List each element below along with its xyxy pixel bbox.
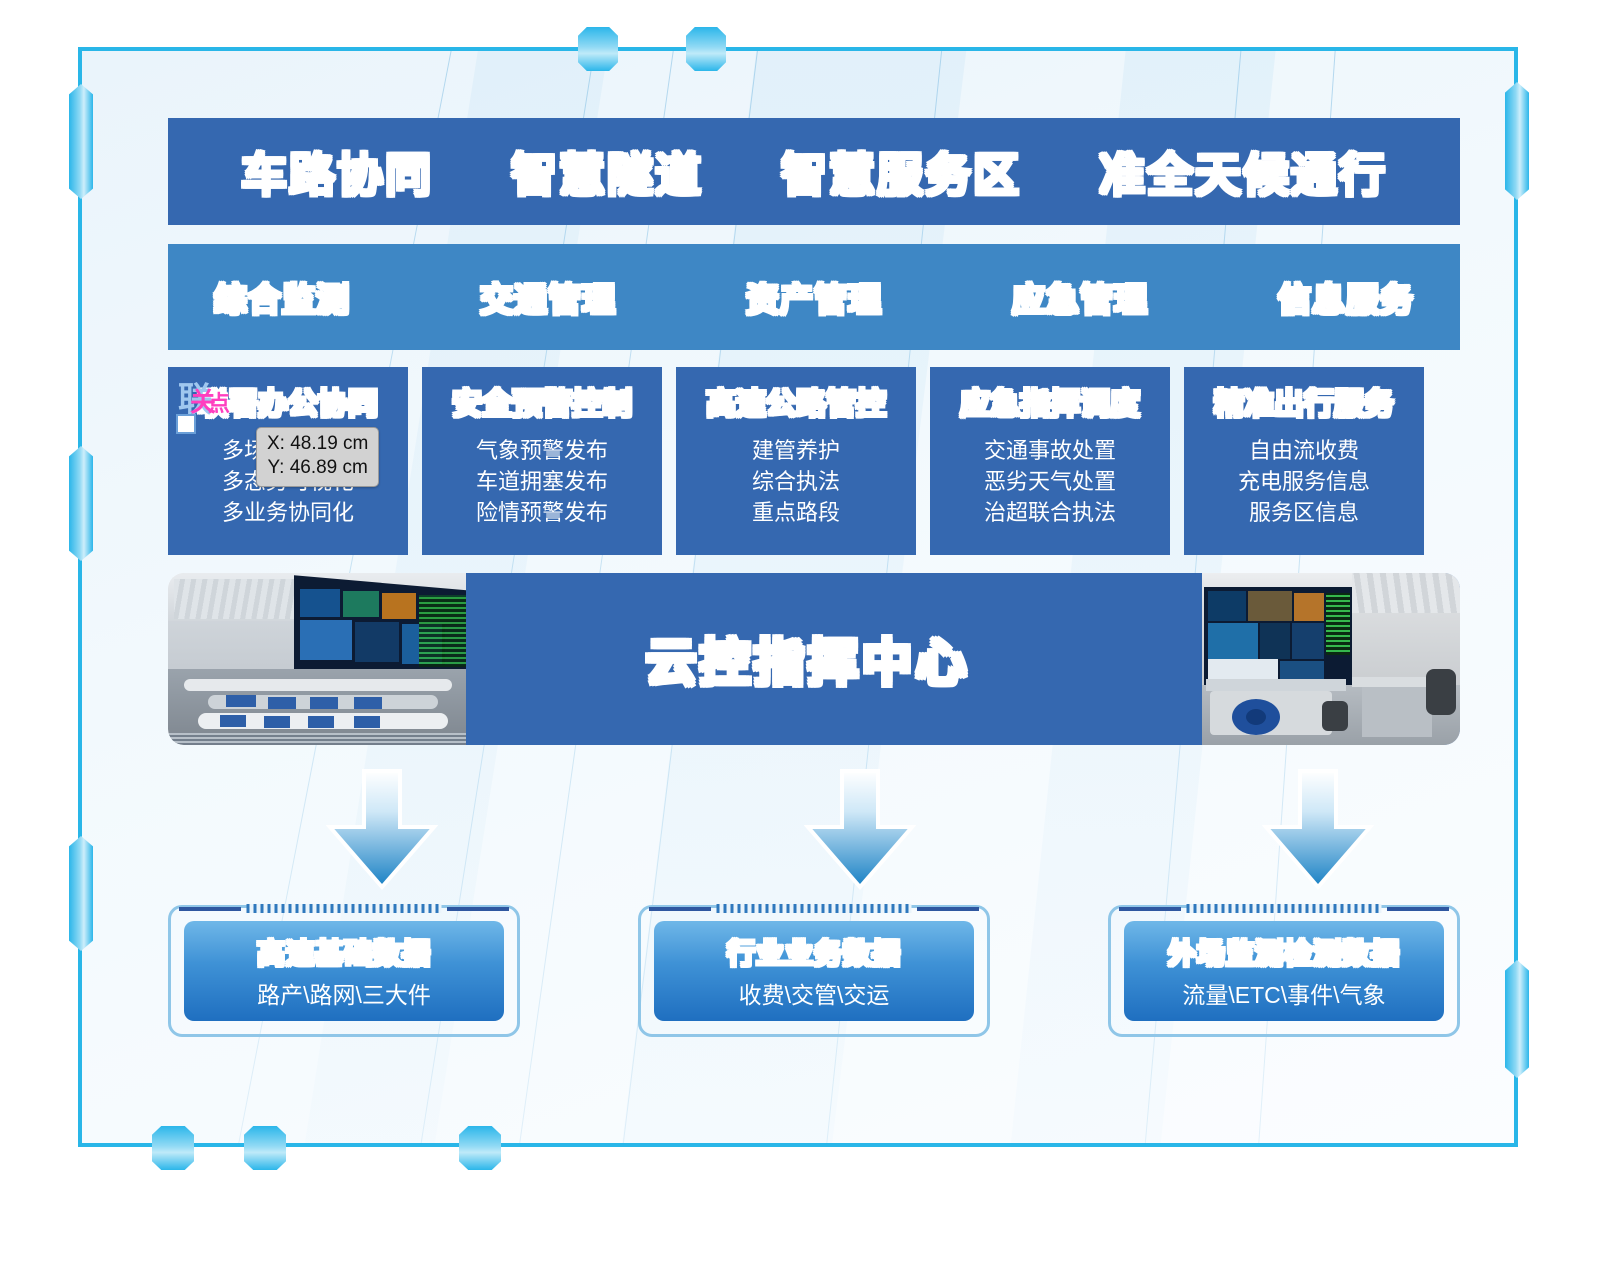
data-box-0[interactable]: 高速基础数据 路产\路网\三大件 [168,905,520,1037]
card-lines-4: 自由流收费 充电服务信息 服务区信息 [1184,435,1424,529]
function-bar-item-4[interactable]: 信息服务 [1278,273,1414,321]
card-line-4-0: 自由流收费 [1184,435,1424,466]
card-line-4-2: 服务区信息 [1184,497,1424,528]
tooltip-x-value: X: 48.19 cm [267,432,368,456]
capability-card-row: 联署办公协同 多场景融合化 多态势可视化 多业务协同化 联 关 点 X: 48.… [168,367,1460,555]
capability-card-4[interactable]: 精准出行服务 自由流收费 充电服务信息 服务区信息 [1184,367,1424,555]
card-line-2-1: 综合执法 [676,466,916,497]
frame-ornament-left-2 [69,446,93,561]
data-box-1[interactable]: 行业业务数据 收费\交管\交运 [638,905,990,1037]
ime-candidate-mark-2: 点 [208,393,230,415]
capability-card-1[interactable]: 安全预警控制 气象预警发布 车道拥塞发布 险情预警发布 [422,367,662,555]
data-box-inner-1: 行业业务数据 收费\交管\交运 [654,921,974,1021]
card-line-2-0: 建管养护 [676,435,916,466]
top-bar-item-3[interactable]: 准全天候通行 [1099,139,1387,205]
top-capability-bar: 车路协同 智慧隧道 智慧服务区 准全天候通行 [168,118,1460,225]
data-box-subtitle-1: 收费\交管\交运 [739,976,890,1010]
card-line-1-2: 险情预警发布 [422,497,662,528]
capability-card-2[interactable]: 高速公路管控 建管养护 综合执法 重点路段 [676,367,916,555]
card-lines-2: 建管养护 综合执法 重点路段 [676,435,916,529]
frame-ornament-top-1 [578,27,618,71]
data-box-frame-1: 行业业务数据 收费\交管\交运 [638,905,990,1037]
card-line-1-0: 气象预警发布 [422,435,662,466]
control-room-photo-right [1202,573,1460,745]
function-bar-item-3[interactable]: 应急管理 [1012,273,1148,321]
data-box-inner-2: 外场监测检测数据 流量\ETC\事件\气象 [1124,921,1444,1021]
tooltip-y-value: Y: 46.89 cm [267,456,368,480]
data-box-notch-left-0 [179,907,241,911]
frame-ornament-top-2 [686,27,726,71]
card-line-2-2: 重点路段 [676,497,916,528]
flow-arrow-center-icon [804,769,916,891]
top-bar-item-1[interactable]: 智慧隧道 [511,139,703,205]
position-tooltip: X: 48.19 cm Y: 46.89 cm [256,427,379,487]
frame-ornament-bottom-2 [244,1126,286,1170]
frame-ornament-bottom-1 [152,1126,194,1170]
data-box-notch-left-2 [1119,907,1181,911]
flow-arrow-left-icon [326,769,438,891]
diagram-content: 车路协同 智慧隧道 智慧服务区 准全天候通行 综合监测 交通管理 资产管理 应急… [168,118,1460,1037]
data-box-notch-right-0 [447,907,509,911]
function-bar-item-0[interactable]: 综合监测 [214,273,350,321]
command-center-title: 云控指挥中心 [646,623,970,695]
frame-ornament-right-1 [1505,82,1529,200]
frame-ornament-left-1 [69,84,93,199]
selection-handle[interactable] [176,414,196,434]
data-box-2[interactable]: 外场监测检测数据 流量\ETC\事件\气象 [1108,905,1460,1037]
function-bar: 综合监测 交通管理 资产管理 应急管理 信息服务 [168,244,1460,350]
data-box-frame-0: 高速基础数据 路产\路网\三大件 [168,905,520,1037]
data-box-subtitle-0: 路产\路网\三大件 [257,976,431,1010]
card-lines-1: 气象预警发布 车道拥塞发布 险情预警发布 [422,435,662,529]
top-bar-item-0[interactable]: 车路协同 [241,139,433,205]
capability-card-3[interactable]: 应急指挥调度 交通事故处置 恶劣天气处置 治超联合执法 [930,367,1170,555]
frame-ornament-right-2 [1505,960,1529,1078]
function-bar-item-1[interactable]: 交通管理 [480,273,616,321]
data-box-title-0: 高速基础数据 [257,932,431,972]
data-box-frame-2: 外场监测检测数据 流量\ETC\事件\气象 [1108,905,1460,1037]
slide-canvas: 车路协同 智慧隧道 智慧服务区 准全天候通行 综合监测 交通管理 资产管理 应急… [0,0,1600,1266]
data-source-row: 高速基础数据 路产\路网\三大件 行业业务数据 收费\交管\交运 [168,905,1460,1037]
card-lines-3: 交通事故处置 恶劣天气处置 治超联合执法 [930,435,1170,529]
control-room-photo-left [168,573,468,745]
card-line-4-1: 充电服务信息 [1184,466,1424,497]
data-box-notch-2 [1187,904,1382,913]
flow-arrow-right-icon [1262,769,1374,891]
data-box-subtitle-2: 流量\ETC\事件\气象 [1182,976,1385,1010]
frame-ornament-bottom-3 [459,1126,501,1170]
card-title-3: 应急指挥调度 [930,389,1170,421]
card-line-3-2: 治超联合执法 [930,497,1170,528]
card-title-2: 高速公路管控 [676,389,916,421]
function-bar-item-2[interactable]: 资产管理 [746,273,882,321]
data-box-notch-0 [247,904,442,913]
frame-ornament-left-3 [69,836,93,951]
card-line-0-2: 多业务协同化 [168,497,408,528]
card-line-1-1: 车道拥塞发布 [422,466,662,497]
data-box-notch-left-1 [649,907,711,911]
data-box-notch-1 [717,904,912,913]
capability-card-0[interactable]: 联署办公协同 多场景融合化 多态势可视化 多业务协同化 联 关 点 X: 48.… [168,367,408,555]
card-line-3-1: 恶劣天气处置 [930,466,1170,497]
command-center-band: 云控指挥中心 [168,573,1460,745]
card-line-3-0: 交通事故处置 [930,435,1170,466]
data-box-title-1: 行业业务数据 [727,932,901,972]
data-box-notch-right-2 [1387,907,1449,911]
top-bar-item-2[interactable]: 智慧服务区 [781,139,1021,205]
card-title-4: 精准出行服务 [1184,389,1424,421]
data-box-inner-0: 高速基础数据 路产\路网\三大件 [184,921,504,1021]
flow-arrow-row [168,769,1460,897]
data-box-title-2: 外场监测检测数据 [1168,932,1400,972]
data-box-notch-right-1 [917,907,979,911]
card-title-1: 安全预警控制 [422,389,662,421]
